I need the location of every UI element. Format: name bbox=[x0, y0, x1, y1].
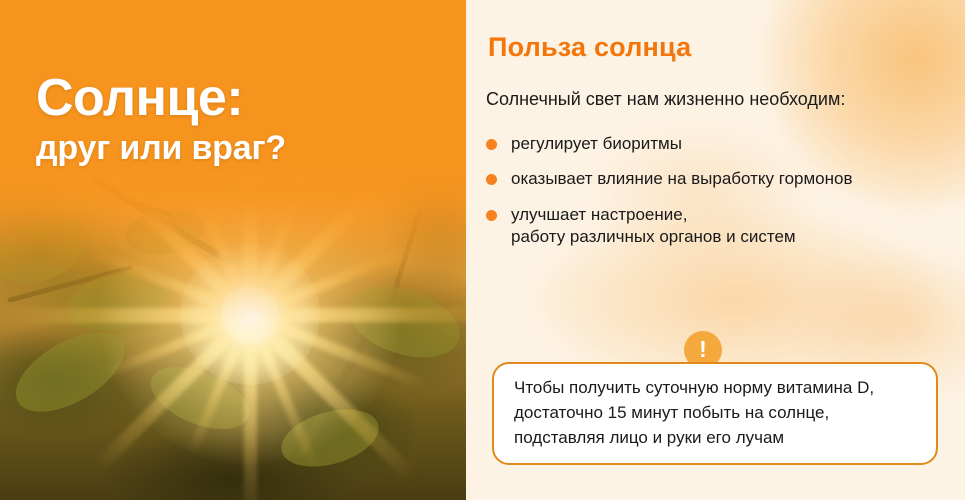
section-title: Польза солнца bbox=[488, 32, 691, 63]
list-item: улучшает настроение, работу различных ор… bbox=[486, 204, 853, 249]
benefits-list: регулирует биоритмы оказывает влияние на… bbox=[486, 133, 853, 262]
exclamation-glyph: ! bbox=[699, 338, 707, 361]
hero-photo-panel: Солнце: друг или враг? bbox=[0, 0, 466, 500]
intro-text: Солнечный свет нам жизненно необходим: bbox=[486, 89, 845, 110]
bullet-dot-icon bbox=[486, 174, 497, 185]
callout-line: Чтобы получить суточную норму витамина D… bbox=[514, 376, 922, 401]
bullet-dot-icon bbox=[486, 139, 497, 150]
headline-line-1: Солнце: bbox=[36, 72, 286, 125]
list-item-line: регулирует биоритмы bbox=[511, 134, 682, 153]
callout-line: достаточно 15 минут побыть на солнце, bbox=[514, 401, 922, 426]
content-panel: Польза солнца Солнечный свет нам жизненн… bbox=[466, 0, 965, 500]
list-item-line: оказывает влияние на выработку гормонов bbox=[511, 169, 853, 188]
list-item-line: работу различных органов и систем bbox=[511, 226, 853, 248]
callout-line: подставляя лицо и руки его лучам bbox=[514, 426, 922, 451]
list-item: регулирует биоритмы bbox=[486, 133, 853, 155]
infographic-banner: Солнце: друг или враг? Польза солнца Сол… bbox=[0, 0, 965, 500]
headline-line-2: друг или враг? bbox=[36, 129, 286, 168]
callout-box: Чтобы получить суточную норму витамина D… bbox=[492, 362, 938, 465]
hero-headline: Солнце: друг или враг? bbox=[36, 72, 286, 168]
list-item: оказывает влияние на выработку гормонов bbox=[486, 168, 853, 190]
bullet-dot-icon bbox=[486, 210, 497, 221]
list-item-line: улучшает настроение, bbox=[511, 204, 853, 226]
callout-text: Чтобы получить суточную норму витамина D… bbox=[514, 376, 922, 451]
